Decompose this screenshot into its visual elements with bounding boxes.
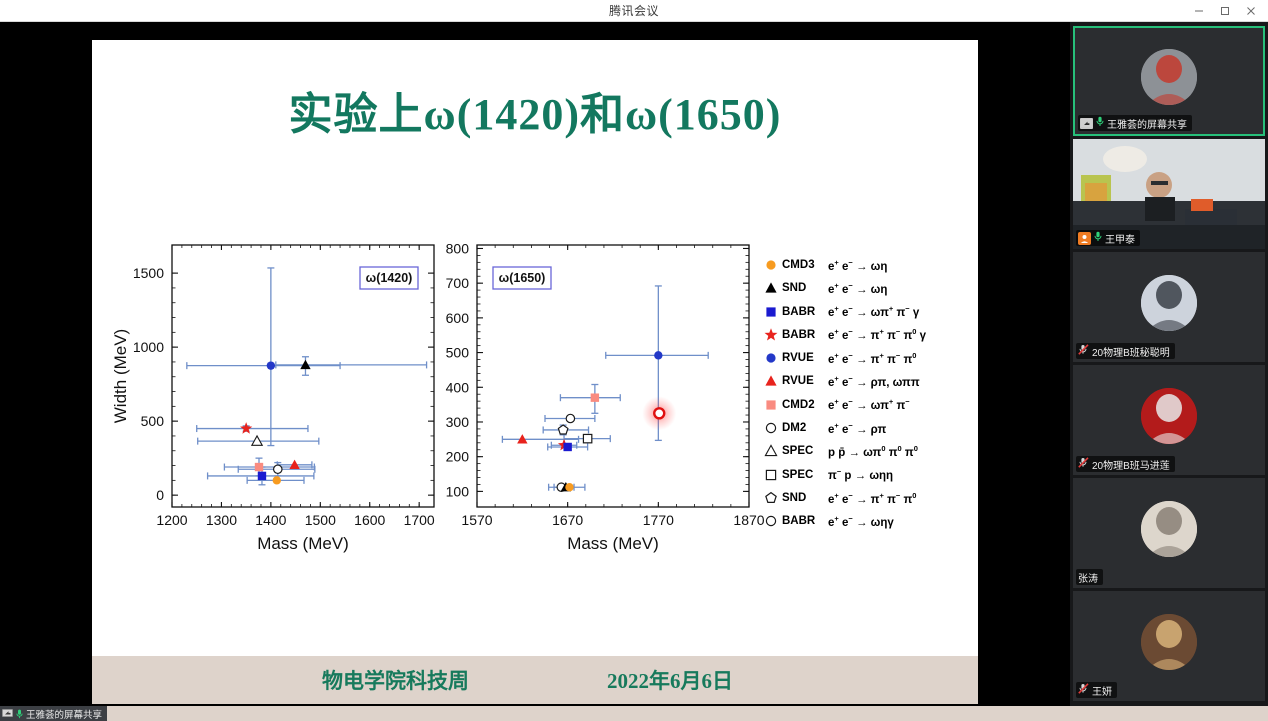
legend-experiment: SPEC bbox=[782, 445, 828, 457]
legend-experiment: RVUE bbox=[782, 375, 828, 387]
minimize-icon bbox=[1194, 6, 1204, 16]
microphone-icon bbox=[1096, 114, 1104, 132]
taskbar-item-screen-share[interactable]: 王雅荟的屏幕共享 bbox=[0, 706, 107, 721]
legend-process: p p̄ → ωπ0 π0 π0 bbox=[828, 444, 918, 459]
marker-open-square bbox=[766, 470, 775, 479]
taskbar-empty-area bbox=[107, 706, 1268, 721]
chart-omega-1650: 1570167017701870100200300400500600700800… bbox=[446, 240, 765, 553]
chart-title: ω(1420) bbox=[366, 271, 413, 285]
maximize-button[interactable] bbox=[1212, 0, 1238, 22]
avatar bbox=[1141, 388, 1197, 444]
legend-process: e+ e− → ωπ+ π− γ bbox=[828, 304, 919, 319]
marker-filled-circle-blue bbox=[654, 351, 662, 359]
legend-experiment: BABR bbox=[782, 306, 828, 318]
x-axis-label: Mass (MeV) bbox=[567, 534, 659, 553]
marker-filled-circle-orange bbox=[273, 476, 281, 484]
y-tick-label: 500 bbox=[141, 413, 165, 429]
participant-nameplate: 20物理B班马进莲 bbox=[1076, 456, 1175, 472]
participant-name: 20物理B班马进莲 bbox=[1092, 457, 1170, 472]
legend-experiment: SND bbox=[782, 282, 828, 294]
marker-filled-square-blue bbox=[766, 307, 775, 316]
marker-open-pentagon bbox=[766, 493, 776, 503]
avatar bbox=[1141, 49, 1197, 105]
y-tick-label: 1500 bbox=[133, 265, 164, 281]
marker-filled-circle-blue bbox=[766, 354, 775, 363]
x-axis-label: Mass (MeV) bbox=[257, 534, 349, 553]
chart-omega-1420: 120013001400150016001700050010001500Mass… bbox=[111, 245, 435, 553]
footer-event-name: 物电学院科技周 bbox=[322, 665, 469, 695]
legend-experiment: RVUE bbox=[782, 352, 828, 364]
marker-filled-square-blue bbox=[563, 443, 571, 451]
y-tick-label: 200 bbox=[446, 449, 470, 465]
microphone-muted-icon bbox=[1078, 455, 1089, 473]
taskbar-item-label: 王雅荟的屏幕共享 bbox=[26, 707, 102, 721]
legend-item: RVUEe+ e− → π+ π− π0 bbox=[760, 348, 926, 368]
window-titlebar: 腾讯会议 bbox=[0, 0, 1268, 22]
marker-filled-circle-orange bbox=[565, 483, 573, 491]
x-tick-label: 1670 bbox=[552, 512, 583, 528]
legend-experiment: SPEC bbox=[782, 469, 828, 481]
marker-filled-square-salmon bbox=[255, 463, 263, 471]
legend-process: e+ e− → π+ π− π0 γ bbox=[828, 327, 926, 342]
legend-marker-open-triangle bbox=[760, 443, 782, 459]
participant-nameplate: 张涛 bbox=[1076, 569, 1103, 585]
slide-title: 实验上ω(1420)和ω(1650) bbox=[92, 78, 978, 142]
legend-process: e+ e− → π+ π− π0 bbox=[828, 491, 916, 506]
legend-marker-open-square bbox=[760, 467, 782, 483]
legend-marker-filled-star-red bbox=[760, 327, 782, 343]
presentation-slide: 实验上ω(1420)和ω(1650) 120013001400150016001… bbox=[92, 40, 978, 704]
legend-experiment: BABR bbox=[782, 329, 828, 341]
screen-share-icon bbox=[1080, 118, 1093, 129]
close-icon bbox=[1246, 6, 1256, 16]
legend-marker-filled-square-blue bbox=[760, 304, 782, 320]
marker-filled-circle-orange bbox=[766, 260, 775, 269]
legend-process: e+ e− → ωη bbox=[828, 281, 887, 296]
legend-experiment: DM2 bbox=[782, 422, 828, 434]
y-axis-label: Width (MeV) bbox=[111, 329, 130, 423]
participant-name: 20物理B班秘聪明 bbox=[1092, 344, 1170, 359]
legend-process: e+ e− → ωηγ bbox=[828, 514, 894, 529]
legend-item: SNDe+ e− → ωη bbox=[760, 278, 926, 298]
legend-marker-open-circle bbox=[760, 513, 782, 529]
avatar bbox=[1141, 614, 1197, 670]
microphone-icon bbox=[16, 709, 23, 719]
participant-tile[interactable]: 20物理B班秘聪明 bbox=[1073, 252, 1265, 362]
participant-tile[interactable]: 张涛 bbox=[1073, 478, 1265, 588]
marker-open-square bbox=[583, 434, 591, 442]
meeting-body: 实验上ω(1420)和ω(1650) 120013001400150016001… bbox=[0, 22, 1268, 706]
legend-item: BABRe+ e− → π+ π− π0 γ bbox=[760, 325, 926, 345]
legend-item: CMD3e+ e− → ωη bbox=[760, 255, 926, 275]
maximize-icon bbox=[1220, 6, 1230, 16]
legend-process: e+ e− → π+ π− π0 bbox=[828, 351, 916, 366]
marker-filled-square-salmon bbox=[591, 393, 599, 401]
participant-nameplate: 王妍 bbox=[1076, 682, 1117, 698]
participant-nameplate: 王雅荟的屏幕共享 bbox=[1078, 115, 1192, 131]
legend-item: SPECp p̄ → ωπ0 π0 π0 bbox=[760, 441, 926, 461]
x-tick-label: 1600 bbox=[354, 512, 385, 528]
legend-marker-filled-triangle-black bbox=[760, 280, 782, 296]
legend-item: RVUEe+ e− → ρπ, ωππ bbox=[760, 371, 926, 391]
x-tick-label: 1500 bbox=[305, 512, 336, 528]
legend-marker-open-circle bbox=[760, 420, 782, 436]
y-tick-label: 100 bbox=[446, 483, 470, 499]
x-tick-label: 1570 bbox=[461, 512, 492, 528]
x-tick-label: 1300 bbox=[206, 512, 237, 528]
legend-marker-filled-triangle-red bbox=[760, 373, 782, 389]
y-tick-label: 600 bbox=[446, 310, 470, 326]
legend-item: DM2e+ e− → ρπ bbox=[760, 418, 926, 438]
y-tick-label: 500 bbox=[446, 345, 470, 361]
marker-filled-triangle-red bbox=[765, 376, 776, 386]
legend-item: SNDe+ e− → π+ π− π0 bbox=[760, 488, 926, 508]
avatar bbox=[1141, 501, 1197, 557]
legend-item: CMD2e+ e− → ωπ+ π− bbox=[760, 395, 926, 415]
participant-tile[interactable]: 王雅荟的屏幕共享 bbox=[1073, 26, 1265, 136]
slide-footer: 物电学院科技周 2022年6月6日 bbox=[92, 656, 978, 704]
y-tick-label: 800 bbox=[446, 240, 470, 256]
marker-open-circle bbox=[766, 423, 775, 432]
marker-filled-square-salmon bbox=[766, 400, 775, 409]
legend-experiment: CMD3 bbox=[782, 259, 828, 271]
marker-filled-triangle-black bbox=[765, 283, 776, 293]
legend-item: BABRe+ e− → ωηγ bbox=[760, 511, 926, 531]
figure-legend: CMD3e+ e− → ωηSNDe+ e− → ωηBABRe+ e− → ω… bbox=[760, 255, 926, 531]
participant-nameplate: 王甲泰 bbox=[1076, 230, 1140, 246]
legend-process: e+ e− → ρπ bbox=[828, 421, 886, 436]
y-tick-label: 700 bbox=[446, 275, 470, 291]
figure-container: 120013001400150016001700050010001500Mass… bbox=[100, 225, 978, 555]
participant-tile[interactable]: 20物理B班马进莲 bbox=[1073, 365, 1265, 475]
marker-open-circle bbox=[766, 517, 775, 526]
participant-tile[interactable]: 王甲泰 bbox=[1073, 139, 1265, 249]
legend-process: e+ e− → ωπ+ π− bbox=[828, 397, 910, 412]
x-tick-label: 1200 bbox=[156, 512, 187, 528]
minimize-button[interactable] bbox=[1186, 0, 1212, 22]
legend-item: BABRe+ e− → ωπ+ π− γ bbox=[760, 302, 926, 322]
participant-name: 王甲泰 bbox=[1105, 231, 1135, 246]
highlight-marker bbox=[654, 408, 664, 418]
tencent-meeting-window: 腾讯会议 实验上ω(1420)和ω(1650) 1200130014001500… bbox=[0, 0, 1268, 721]
marker-filled-star-red bbox=[765, 328, 778, 340]
legend-marker-filled-circle-blue bbox=[760, 350, 782, 366]
x-tick-label: 1770 bbox=[643, 512, 674, 528]
legend-process: π− p → ωηη bbox=[828, 467, 893, 482]
window-title: 腾讯会议 bbox=[609, 2, 659, 19]
y-tick-label: 1000 bbox=[133, 339, 164, 355]
window-controls bbox=[1186, 0, 1264, 22]
marker-open-circle bbox=[274, 465, 282, 473]
legend-experiment: BABR bbox=[782, 515, 828, 527]
host-badge-icon bbox=[1078, 232, 1091, 245]
microphone-muted-icon bbox=[1078, 342, 1089, 360]
marker-open-circle bbox=[566, 414, 574, 422]
footer-date: 2022年6月6日 bbox=[607, 665, 733, 695]
shared-screen-stage[interactable]: 实验上ω(1420)和ω(1650) 120013001400150016001… bbox=[0, 22, 1070, 706]
x-tick-label: 1400 bbox=[255, 512, 286, 528]
legend-marker-open-pentagon bbox=[760, 490, 782, 506]
y-tick-label: 400 bbox=[446, 379, 470, 395]
participant-strip[interactable]: 王雅荟的屏幕共享王甲泰20物理B班秘聪明20物理B班马进莲张涛王妍 bbox=[1070, 22, 1268, 706]
legend-process: e+ e− → ρπ, ωππ bbox=[828, 374, 920, 389]
participant-nameplate: 20物理B班秘聪明 bbox=[1076, 343, 1175, 359]
marker-filled-square-blue bbox=[258, 472, 266, 480]
avatar bbox=[1141, 275, 1197, 331]
legend-marker-filled-circle-orange bbox=[760, 257, 782, 273]
marker-open-triangle bbox=[765, 446, 776, 456]
marker-filled-circle-blue bbox=[267, 361, 275, 369]
legend-experiment: SND bbox=[782, 492, 828, 504]
legend-experiment: CMD2 bbox=[782, 399, 828, 411]
microphone-muted-icon bbox=[1078, 681, 1089, 699]
legend-process: e+ e− → ωη bbox=[828, 258, 887, 273]
legend-marker-filled-square-salmon bbox=[760, 397, 782, 413]
os-taskbar: 王雅荟的屏幕共享 bbox=[0, 706, 1268, 721]
participant-name: 张涛 bbox=[1078, 570, 1098, 585]
legend-item: SPECπ− p → ωηη bbox=[760, 465, 926, 485]
participant-name: 王妍 bbox=[1092, 683, 1112, 698]
chart-title: ω(1650) bbox=[499, 271, 546, 285]
microphone-icon bbox=[1094, 229, 1102, 247]
screen-share-icon bbox=[2, 709, 13, 718]
close-button[interactable] bbox=[1238, 0, 1264, 22]
x-tick-label: 1700 bbox=[404, 512, 435, 528]
participant-tile[interactable]: 王妍 bbox=[1073, 591, 1265, 701]
y-tick-label: 300 bbox=[446, 414, 470, 430]
y-tick-label: 0 bbox=[156, 487, 164, 503]
participant-name: 王雅荟的屏幕共享 bbox=[1107, 116, 1187, 131]
